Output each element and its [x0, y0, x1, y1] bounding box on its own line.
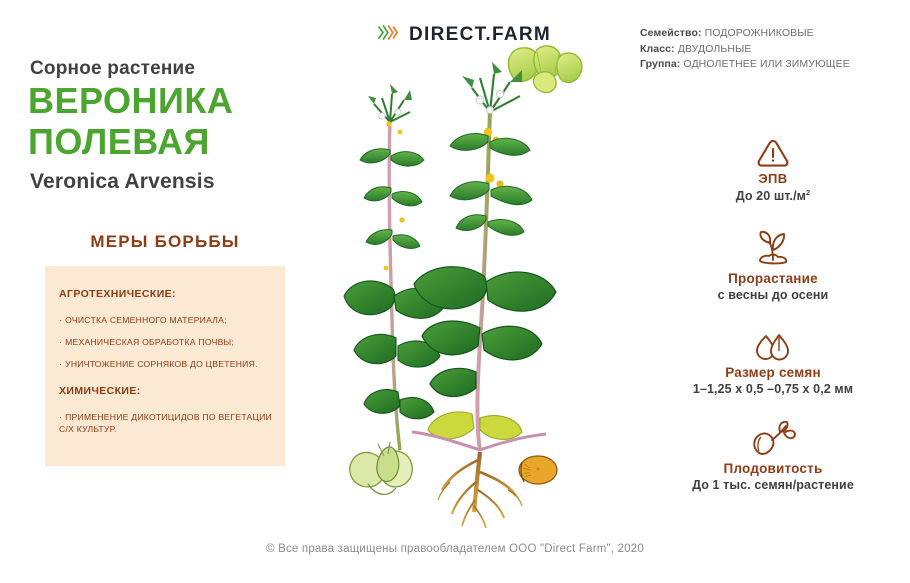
- germination-value: с весны до осени: [638, 288, 908, 302]
- kicker-label: Сорное растение: [30, 58, 195, 80]
- agro-item-3: ·УНИЧТОЖЕНИЕ СОРНЯКОВ ДО ЦВЕТЕНИЯ.: [59, 358, 258, 370]
- axillary-flower: [384, 266, 389, 271]
- seedling-sprout-icon: [638, 412, 908, 458]
- seed-size-title: Размер семян: [638, 365, 908, 380]
- yellowing-leaves: [428, 412, 522, 439]
- agro-item-1: ·ОЧИСТКА СЕМЕННОГО МАТЕРИАЛА;: [59, 314, 227, 326]
- two-seeds-icon: [638, 316, 908, 362]
- taxonomy-group-value: ОДНОЛЕТНЕЕ ИЛИ ЗИМУЮЩЕЕ: [683, 58, 849, 70]
- agro-item-1-text: ОЧИСТКА СЕМЕННОГО МАТЕРИАЛА;: [65, 315, 227, 325]
- seed-capsule-specimen: [350, 442, 412, 494]
- veronica-arvensis-botanical-illustration: [330, 20, 630, 530]
- plant-name-line2: ПОЛЕВАЯ: [28, 121, 328, 162]
- taxonomy-class-value: ДВУДОЛЬНЫЕ: [678, 43, 752, 55]
- left-flowering-stem: [344, 84, 446, 450]
- control-measures-box: АГРОТЕХНИЧЕСКИЕ: ·ОЧИСТКА СЕМЕННОГО МАТЕ…: [45, 266, 285, 466]
- latin-name: Veronica Arvensis: [30, 170, 215, 194]
- left-column: Сорное растение ВЕРОНИКА ПОЛЕВАЯ Veronic…: [0, 0, 340, 583]
- chem-item-1: ·ПРИМЕНЕНИЕ ДИКОТИЦИДОВ ПО ВЕГЕТАЦИИ С/Х…: [59, 411, 274, 435]
- bullet-icon: ·: [59, 315, 62, 325]
- seed-capsule-detail: [509, 46, 582, 92]
- agro-item-2-text: МЕХАНИЧЕСКАЯ ОБРАБОТКА ПОЧВЫ;: [65, 337, 234, 347]
- bullet-icon: ·: [59, 337, 62, 347]
- seed-size-value: 1–1,25 x 0,5 –0,75 x 0,2 мм: [638, 382, 908, 396]
- stat-epv: ЭПВ До 20 шт./м2: [638, 124, 908, 203]
- taxonomy-family-label: Семейство:: [640, 27, 702, 39]
- page-title: ВЕРОНИКА ПОЛЕВАЯ: [28, 80, 328, 162]
- warning-triangle-icon: [638, 124, 908, 170]
- main-lobed-leaves: [414, 267, 556, 397]
- taxonomy-group-label: Группа:: [640, 58, 680, 70]
- taxonomy-class: Класс: ДВУДОЛЬНЫЕ: [640, 42, 902, 58]
- stat-seed-size: Размер семян 1–1,25 x 0,5 –0,75 x 0,2 мм: [638, 316, 908, 396]
- copyright-footer: © Все права защищены правообладателем ОО…: [0, 543, 910, 555]
- taxonomy-block: Семейство: ПОДОРОЖНИКОВЫЕ Класс: ДВУДОЛЬ…: [640, 26, 902, 73]
- agro-heading: АГРОТЕХНИЧЕСКИЕ:: [59, 288, 176, 300]
- sprout-icon: [638, 222, 908, 268]
- chem-heading: ХИМИЧЕСКИЕ:: [59, 385, 141, 397]
- agro-item-2: ·МЕХАНИЧЕСКАЯ ОБРАБОТКА ПОЧВЫ;: [59, 336, 234, 348]
- epv-value: До 20 шт./м2: [638, 188, 908, 203]
- left-stem-leaves: [360, 149, 424, 249]
- taxonomy-class-label: Класс:: [640, 43, 675, 55]
- agro-item-3-text: УНИЧТОЖЕНИЕ СОРНЯКОВ ДО ЦВЕТЕНИЯ.: [65, 359, 258, 369]
- stat-germination: Прорастание с весны до осени: [638, 222, 908, 302]
- epv-value-text: До 20 шт./м: [736, 189, 806, 203]
- plant-name-line1: ВЕРОНИКА: [28, 80, 328, 121]
- epv-abbr: ЭПВ: [638, 171, 908, 186]
- chem-item-1-text: ПРИМЕНЕНИЕ ДИКОТИЦИДОВ ПО ВЕГЕТАЦИИ С/Х …: [59, 412, 272, 434]
- measures-title: МЕРЫ БОРЬБЫ: [0, 232, 330, 252]
- fecundity-title: Плодовитость: [638, 461, 908, 476]
- seed-detail: [519, 456, 557, 484]
- taxonomy-family: Семейство: ПОДОРОЖНИКОВЫЕ: [640, 26, 902, 42]
- epv-value-sup: 2: [806, 188, 810, 197]
- axillary-flower: [399, 217, 404, 222]
- main-flowering-stem: [414, 62, 556, 450]
- bullet-icon: ·: [59, 412, 62, 422]
- stat-fecundity: Плодовитость До 1 тыс. семян/растение: [638, 412, 908, 492]
- whorl-leaves: [450, 134, 532, 236]
- root-system: [438, 452, 522, 528]
- fecundity-value: До 1 тыс. семян/растение: [638, 478, 908, 492]
- germination-title: Прорастание: [638, 271, 908, 286]
- taxonomy-group: Группа: ОДНОЛЕТНЕЕ ИЛИ ЗИМУЮЩЕЕ: [640, 57, 902, 73]
- bullet-icon: ·: [59, 359, 62, 369]
- infographic-page: DIRECT.FARM Сорное растение ВЕРОНИКА ПОЛ…: [0, 0, 910, 583]
- taxonomy-family-value: ПОДОРОЖНИКОВЫЕ: [705, 27, 814, 39]
